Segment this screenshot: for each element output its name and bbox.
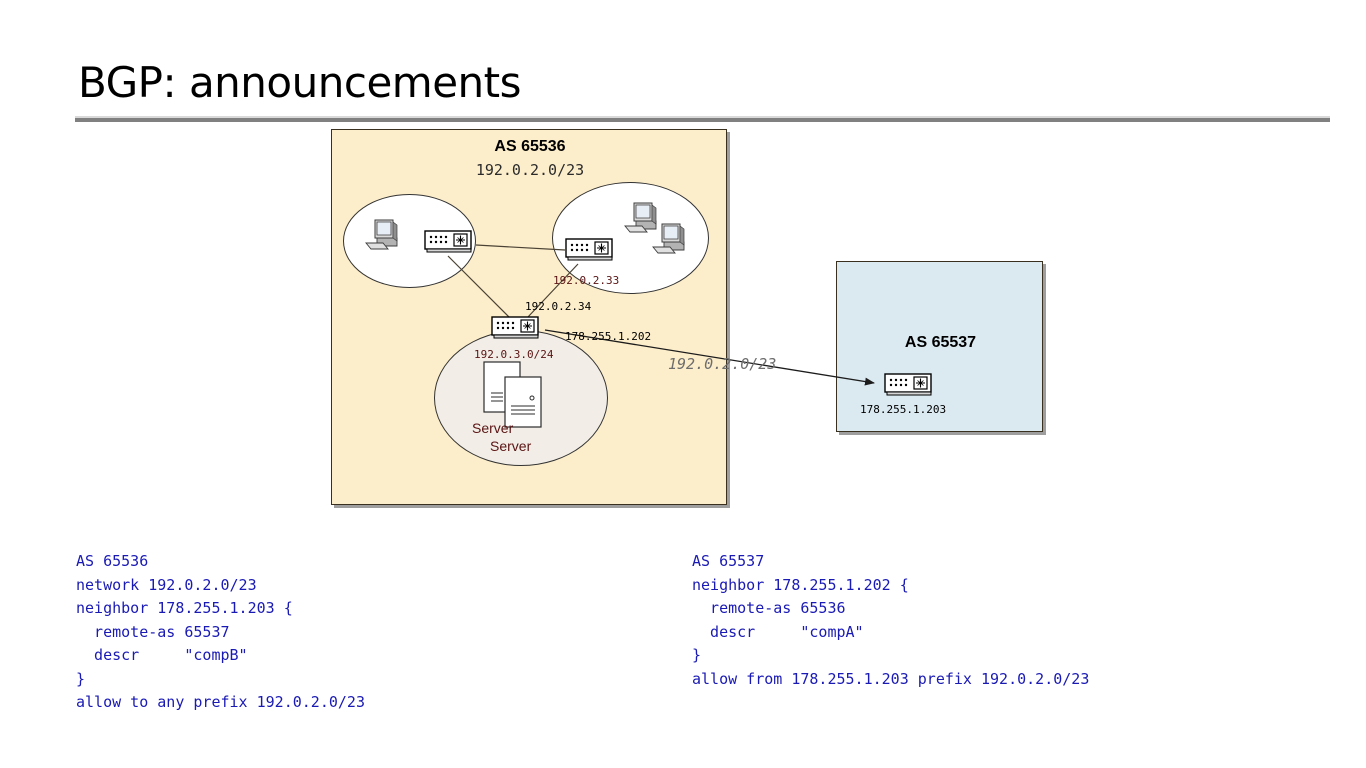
router-icon bbox=[884, 373, 936, 399]
router-icon bbox=[424, 230, 476, 256]
as-65536-prefix-label: 192.0.2.0/23 bbox=[332, 161, 728, 179]
page-title: BGP: announcements bbox=[78, 58, 521, 107]
server-label: Server bbox=[490, 438, 531, 454]
server-label: Server bbox=[472, 420, 513, 436]
computer-icon bbox=[650, 220, 690, 258]
title-divider bbox=[75, 116, 1330, 122]
ip-label-192-0-2-34: 192.0.2.34 bbox=[525, 300, 591, 313]
computer-icon bbox=[363, 216, 403, 254]
announcement-prefix-label: 192.0.2.0/23 bbox=[668, 355, 776, 373]
router-icon bbox=[565, 238, 617, 264]
as-65536-label: AS 65536 bbox=[332, 138, 728, 156]
network-label-192-0-3-0-24: 192.0.3.0/24 bbox=[474, 348, 553, 361]
as-65537-label: AS 65537 bbox=[837, 334, 1044, 352]
config-block-as-65537: AS 65537 neighbor 178.255.1.202 { remote… bbox=[692, 550, 1089, 691]
config-block-as-65536: AS 65536 network 192.0.2.0/23 neighbor 1… bbox=[76, 550, 365, 715]
ip-label-178-255-1-203: 178.255.1.203 bbox=[860, 403, 946, 416]
ip-label-192-0-2-33: 192.0.2.33 bbox=[553, 274, 619, 287]
router-icon bbox=[491, 316, 543, 342]
ip-label-178-255-1-202: 178.255.1.202 bbox=[565, 330, 651, 343]
